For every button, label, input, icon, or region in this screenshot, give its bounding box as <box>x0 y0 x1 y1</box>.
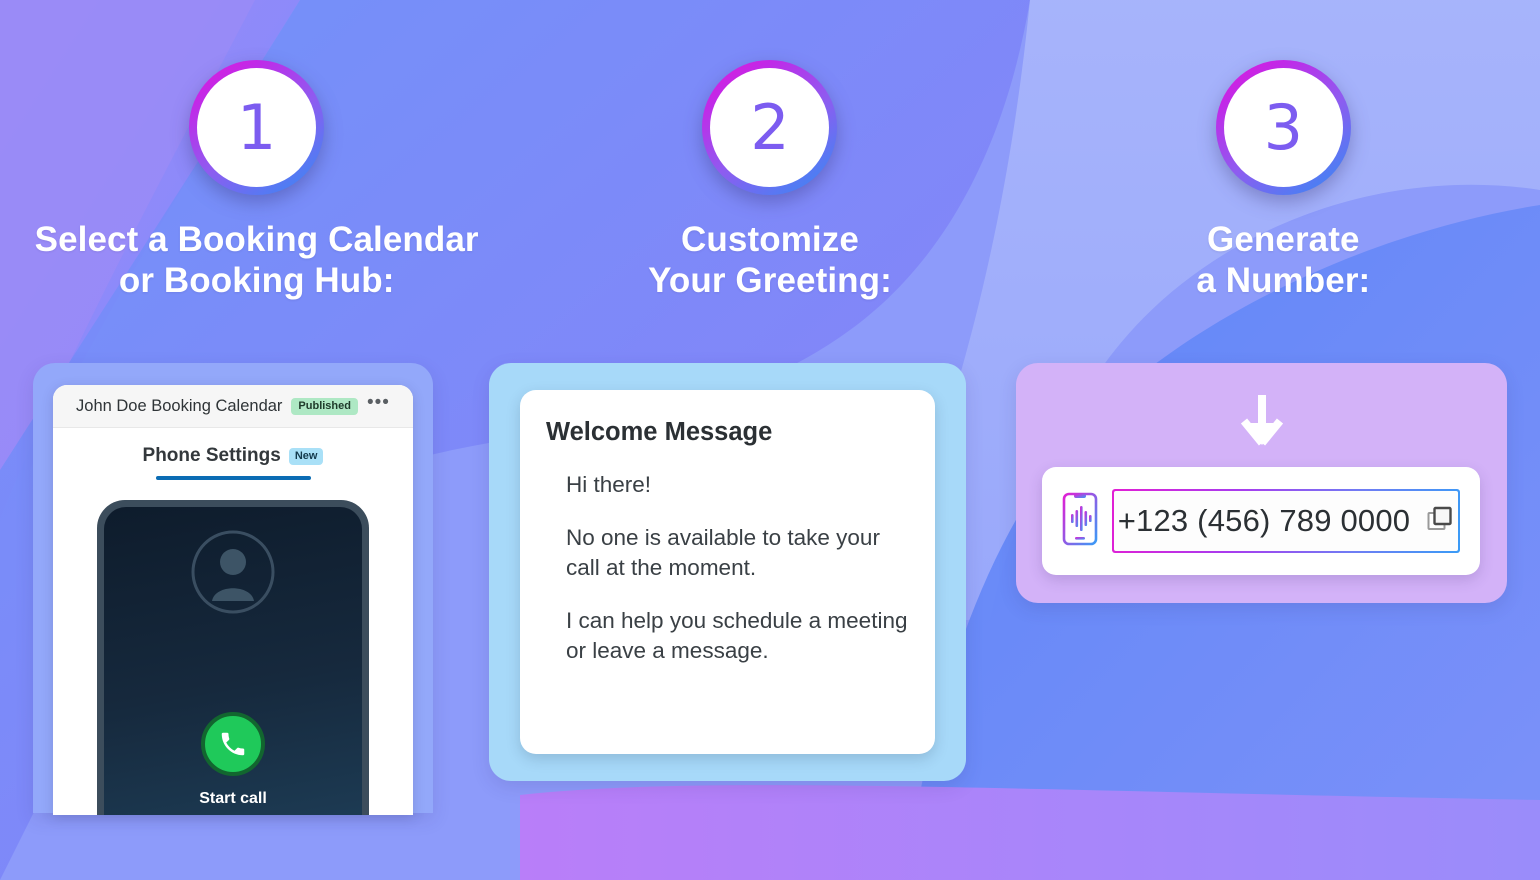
step-number-2: 2 <box>750 97 789 159</box>
step-number-1: 1 <box>237 97 276 159</box>
welcome-line-3: I can help you schedule a meeting or lea… <box>566 606 909 666</box>
card-2-frame: Welcome Message Hi there! No one is avai… <box>489 363 966 781</box>
welcome-message-title: Welcome Message <box>546 418 909 447</box>
phone-number-input[interactable]: +123 (456) 789 0000 <box>1112 489 1460 553</box>
arrow-down-icon <box>1016 393 1507 449</box>
infographic-stage: 1 Select a Booking Calendar or Booking H… <box>0 0 1540 880</box>
phone-screen: Start call <box>104 507 362 815</box>
heading-line: Select a Booking Calendar <box>35 219 479 260</box>
generated-number-bar: +123 (456) 789 0000 <box>1042 467 1480 575</box>
step-badge-1: 1 <box>189 60 324 195</box>
card-1-frame: John Doe Booking Calendar Published ••• … <box>33 363 433 813</box>
user-avatar-icon <box>190 529 276 620</box>
welcome-line-1: Hi there! <box>566 470 909 500</box>
phone-number-value: +123 (456) 789 0000 <box>1118 503 1411 539</box>
heading-line: Your Greeting: <box>648 260 892 301</box>
step-heading-2: Customize Your Greeting: <box>648 219 892 302</box>
start-call-caption: Start call <box>104 790 362 808</box>
welcome-message-card: Welcome Message Hi there! No one is avai… <box>520 390 935 754</box>
heading-line: Generate <box>1196 219 1370 260</box>
new-badge: New <box>289 448 324 465</box>
welcome-line-2: No one is available to take your call at… <box>566 523 909 583</box>
tab-label: Phone Settings <box>143 445 281 467</box>
phone-handset-icon <box>218 729 248 759</box>
tab-phone-settings[interactable]: Phone Settings New <box>53 445 413 480</box>
card-3-frame: +123 (456) 789 0000 <box>1016 363 1507 603</box>
window-title: John Doe Booking Calendar <box>76 397 282 416</box>
phone-waveform-icon <box>1062 492 1098 551</box>
step-number-3: 3 <box>1264 97 1303 159</box>
window-titlebar: John Doe Booking Calendar Published ••• <box>53 385 413 428</box>
phone-mockup: Start call <box>97 500 369 815</box>
heading-line: or Booking Hub: <box>35 260 479 301</box>
booking-calendar-window: John Doe Booking Calendar Published ••• … <box>53 385 413 815</box>
heading-line: Customize <box>648 219 892 260</box>
tab-active-underline <box>156 476 311 480</box>
more-options-icon[interactable]: ••• <box>367 398 390 415</box>
step-badge-3: 3 <box>1216 60 1351 195</box>
copy-icon[interactable] <box>1426 505 1454 538</box>
step-badge-2: 2 <box>702 60 837 195</box>
heading-line: a Number: <box>1196 260 1370 301</box>
start-call-button[interactable] <box>201 712 265 776</box>
step-heading-1: Select a Booking Calendar or Booking Hub… <box>35 219 479 302</box>
step-heading-3: Generate a Number: <box>1196 219 1370 302</box>
status-badge: Published <box>291 398 358 415</box>
